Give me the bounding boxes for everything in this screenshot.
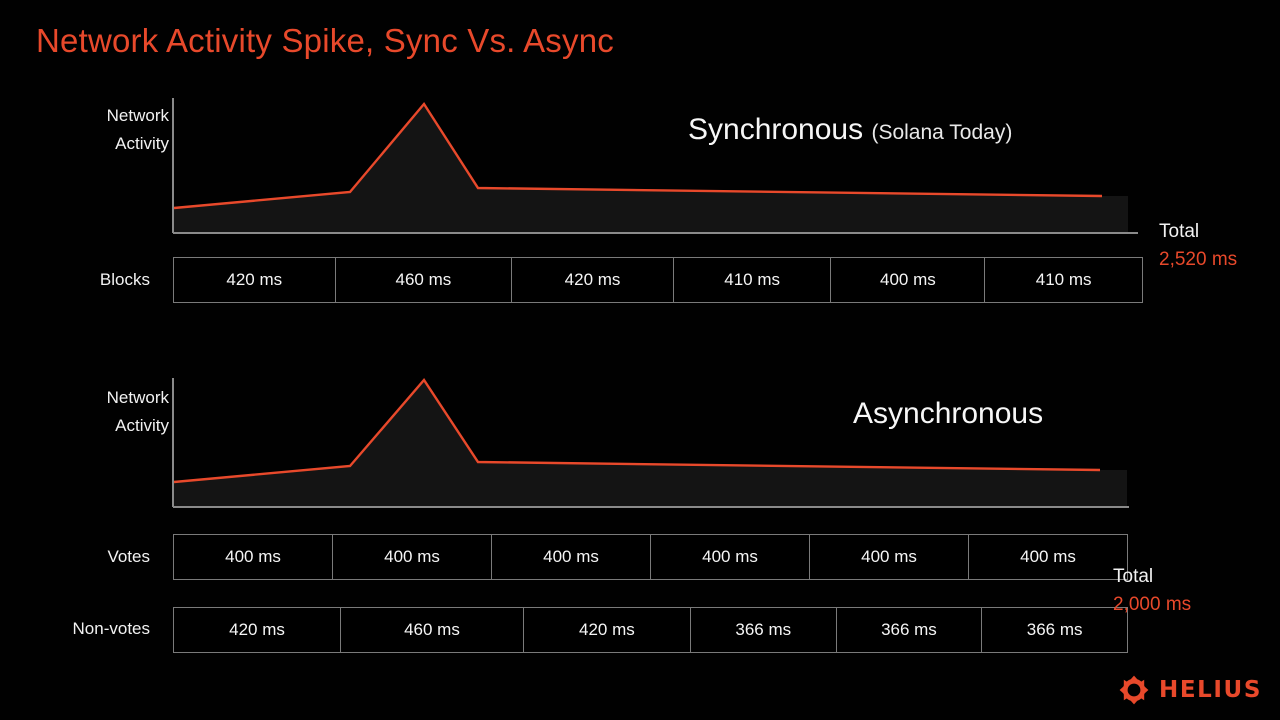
series-name-asynchronous-main: Asynchronous	[853, 397, 1043, 430]
timeline-cell[interactable]: 420 ms	[173, 257, 336, 303]
total-label: Total	[1159, 218, 1237, 246]
timeline-cell[interactable]: 410 ms	[984, 257, 1143, 303]
series-name-synchronous: Synchronous (Solana Today)	[688, 113, 1012, 147]
timeline-cell[interactable]: 420 ms	[523, 607, 691, 653]
timeline-cell[interactable]: 400 ms	[173, 534, 333, 580]
row-label-blocks: Blocks	[20, 270, 150, 290]
timeline-cell[interactable]: 400 ms	[491, 534, 651, 580]
total-synchronous: Total 2,520 ms	[1159, 218, 1237, 273]
chart-axis-label-asynchronous: Network Activity	[24, 384, 169, 440]
page-title: Network Activity Spike, Sync Vs. Async	[36, 22, 614, 60]
chart-asynchronous	[172, 376, 1140, 508]
chart-axis-label-synchronous: Network Activity	[24, 102, 169, 158]
row-label-non-votes: Non-votes	[10, 619, 150, 639]
timeline-cell[interactable]: 400 ms	[830, 257, 985, 303]
row-label-votes: Votes	[20, 547, 150, 567]
total-value: 2,520 ms	[1159, 246, 1237, 274]
series-name-asynchronous: Asynchronous	[853, 397, 1043, 431]
timeline-cell[interactable]: 420 ms	[173, 607, 341, 653]
timeline-cell[interactable]: 400 ms	[650, 534, 810, 580]
timeline-cell[interactable]: 366 ms	[690, 607, 837, 653]
total-label: Total	[1113, 563, 1191, 591]
timeline-cell[interactable]: 460 ms	[335, 257, 513, 303]
timeline-row-blocks: 420 ms 460 ms 420 ms 410 ms 400 ms 410 m…	[173, 257, 1143, 303]
timeline-cell[interactable]: 400 ms	[332, 534, 492, 580]
helius-sunburst-icon	[1118, 674, 1150, 706]
timeline-cell[interactable]: 366 ms	[981, 607, 1128, 653]
timeline-cell[interactable]: 400 ms	[968, 534, 1128, 580]
timeline-cell[interactable]: 410 ms	[673, 257, 832, 303]
timeline-cell[interactable]: 460 ms	[340, 607, 524, 653]
helius-logo-text: HELIUS	[1159, 677, 1262, 703]
series-name-synchronous-main: Synchronous	[688, 113, 863, 146]
timeline-row-non-votes: 420 ms 460 ms 420 ms 366 ms 366 ms 366 m…	[173, 607, 1128, 653]
total-value: 2,000 ms	[1113, 591, 1191, 619]
series-name-synchronous-note: (Solana Today)	[871, 121, 1012, 144]
timeline-row-votes: 400 ms 400 ms 400 ms 400 ms 400 ms 400 m…	[173, 534, 1128, 580]
timeline-cell[interactable]: 420 ms	[511, 257, 674, 303]
timeline-cell[interactable]: 400 ms	[809, 534, 969, 580]
chart-asynchronous-svg	[172, 376, 1140, 508]
timeline-cell[interactable]: 366 ms	[836, 607, 983, 653]
helius-logo[interactable]: HELIUS	[1118, 674, 1262, 706]
slide-root: Network Activity Spike, Sync Vs. Async N…	[0, 0, 1280, 720]
total-asynchronous: Total 2,000 ms	[1113, 563, 1191, 618]
